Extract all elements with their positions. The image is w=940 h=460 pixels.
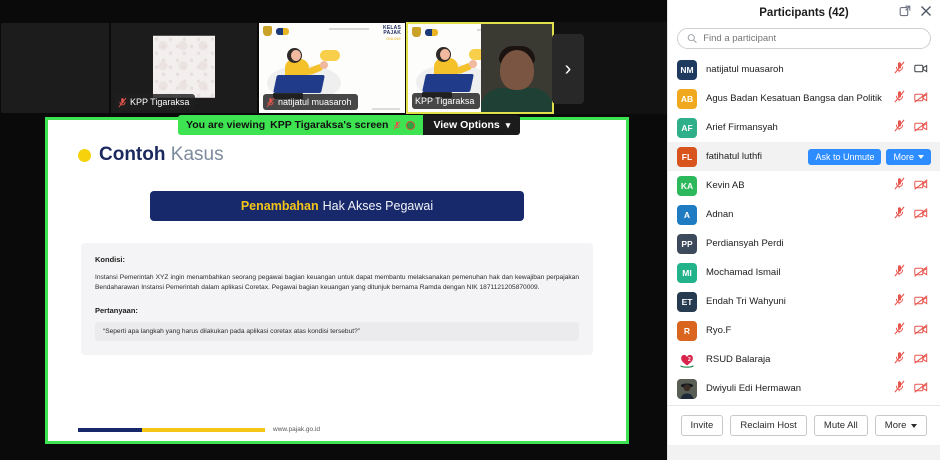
thumbnail-name-badge: KPP Tigaraksa — [412, 93, 480, 109]
mic-off-icon — [894, 206, 905, 219]
popout-icon[interactable] — [899, 5, 911, 21]
thumbnail-name: KPP Tigaraksa — [130, 96, 189, 108]
more-button[interactable]: More — [875, 415, 928, 436]
mic-off-icon — [894, 264, 905, 277]
participant-name: Kevin AB — [706, 180, 885, 191]
avatar: MI — [677, 263, 697, 283]
participant-name: Mochamad Ismail — [706, 267, 885, 278]
djp-logo-icon — [276, 28, 289, 35]
mic-off-icon — [894, 293, 905, 306]
mic-status-icon[interactable] — [894, 351, 905, 369]
zoom-meeting-window: KPP Tigaraksa KELASPAJAKONLINE — [0, 0, 940, 460]
view-options-button[interactable]: View Options ▾ — [423, 115, 520, 135]
participant-name: Dwiyuli Edi Hermawan — [706, 383, 885, 394]
video-off-icon — [914, 121, 928, 132]
video-off-icon — [914, 295, 928, 306]
video-status-icon[interactable] — [914, 119, 928, 137]
participant-name: Agus Badan Kesatuan Bangsa dan Politik — [706, 93, 885, 104]
participant-status-icons — [894, 90, 928, 108]
mic-off-icon — [266, 97, 275, 108]
footer-rule-blue — [78, 428, 142, 432]
participant-status-icons — [894, 264, 928, 282]
kondisi-body: Instansi Pemerintah XYZ ingin menambahka… — [95, 273, 579, 293]
participant-webcam-feed — [481, 24, 552, 112]
participant-row-actions: Ask to Unmute More — [808, 149, 931, 165]
footer-url: www.pajak.go.id — [273, 426, 320, 433]
presentation-slide: Contoh Kasus Penambahan Hak Akses Pegawa… — [48, 120, 626, 441]
pertanyaan-heading: Pertanyaan: — [95, 306, 579, 315]
chevron-down-icon — [911, 424, 917, 428]
rsud-logo-icon: 2 — [677, 350, 697, 370]
footer-rule-yellow — [142, 428, 265, 432]
video-off-icon — [914, 353, 928, 364]
video-status-icon[interactable] — [914, 90, 928, 108]
ask-to-unmute-button[interactable]: Ask to Unmute — [808, 149, 881, 165]
participant-row[interactable]: MIMochamad Ismail — [668, 258, 940, 287]
reclaim-host-button[interactable]: Reclaim Host — [730, 415, 807, 436]
video-off-icon — [914, 179, 928, 190]
mic-off-icon — [894, 61, 905, 74]
participant-status-icons — [894, 177, 928, 195]
video-thumbnail[interactable]: KELASPAJAKONLINE — [258, 22, 406, 114]
mic-status-icon[interactable] — [894, 177, 905, 195]
participants-panel-header: Participants (42) — [668, 0, 940, 26]
slide-logos — [263, 26, 289, 36]
mic-status-icon[interactable] — [894, 293, 905, 311]
view-options-label: View Options — [433, 119, 499, 131]
chevron-down-icon — [918, 155, 924, 159]
avatar: NM — [677, 60, 697, 80]
search-box[interactable] — [677, 28, 931, 49]
viewing-screen-owner: KPP Tigaraksa's screen — [270, 119, 388, 131]
mic-off-icon — [894, 322, 905, 335]
avatar: R — [677, 321, 697, 341]
thumbnail-name-badge: KPP Tigaraksa — [115, 94, 195, 110]
slide-headline-bold: Penambahan — [241, 199, 319, 213]
avatar — [677, 379, 697, 399]
participant-status-icons — [894, 380, 928, 398]
search-container — [668, 26, 940, 55]
participant-name: fatihatul luthfi — [706, 151, 799, 162]
invite-button[interactable]: Invite — [681, 415, 724, 436]
slide-headline-rest: Hak Akses Pegawai — [323, 199, 433, 213]
djp-logo-icon — [425, 29, 438, 36]
mic-status-icon[interactable] — [894, 322, 905, 340]
screen-share-banner: You are viewing KPP Tigaraksa's screen V… — [178, 115, 520, 135]
mic-off-icon — [393, 120, 401, 131]
avatar: PP — [677, 234, 697, 254]
mic-status-icon[interactable] — [894, 264, 905, 282]
mic-off-icon — [894, 177, 905, 190]
video-off-icon — [914, 208, 928, 219]
bullet-dot-icon — [78, 149, 91, 162]
video-status-icon[interactable] — [914, 206, 928, 224]
mic-off-icon — [894, 380, 905, 393]
participant-row[interactable]: FLfatihatul luthfi Ask to Unmute More — [668, 142, 940, 171]
avatar: AB — [677, 89, 697, 109]
video-thumbnail[interactable]: KPP Tigaraksa — [110, 22, 258, 114]
participant-row[interactable]: 2 RSUD Balaraja — [668, 345, 940, 374]
video-thumbnail[interactable] — [0, 22, 110, 114]
close-icon[interactable] — [920, 5, 932, 21]
participants-footer-toolbar: Invite Reclaim Host Mute All More — [668, 405, 940, 445]
video-status-icon[interactable] — [914, 264, 928, 282]
page-title: Participants (42) — [759, 7, 848, 19]
avatar: ET — [677, 292, 697, 312]
video-status-icon[interactable] — [914, 351, 928, 369]
participant-row[interactable]: AAdnan — [668, 200, 940, 229]
participant-row[interactable]: NMnatijatul muasaroh — [668, 55, 940, 84]
mic-status-icon[interactable] — [894, 90, 905, 108]
slide-title-rest: Kasus — [171, 144, 224, 165]
panel-bottom-strip — [667, 445, 940, 460]
search-icon — [687, 33, 697, 44]
kelas-pajak-badge: KELASPAJAKONLINE — [383, 26, 401, 41]
slide-title-bold: Contoh — [99, 144, 165, 165]
participant-name: Perdiansyah Perdi — [706, 238, 919, 249]
avatar: AF — [677, 118, 697, 138]
participant-status-icons — [894, 119, 928, 137]
recording-indicator-icon — [406, 121, 415, 130]
mic-off-icon — [118, 97, 127, 108]
avatar: KA — [677, 176, 697, 196]
participants-panel: Participants (42) — [667, 0, 940, 445]
mic-status-icon[interactable] — [894, 206, 905, 224]
video-thumbnail-active-speaker[interactable]: KELASPAJAKONLINE — [406, 22, 554, 114]
participant-status-icons — [894, 61, 928, 79]
garuda-logo-icon — [412, 27, 421, 37]
slide-title: Contoh Kasus — [78, 144, 596, 166]
video-on-icon — [914, 63, 928, 74]
participant-name: Adnan — [706, 209, 885, 220]
video-status-icon[interactable] — [914, 177, 928, 195]
video-off-icon — [914, 324, 928, 335]
more-button-label: More — [885, 420, 907, 431]
video-off-icon — [914, 266, 928, 277]
mic-status-icon[interactable] — [894, 119, 905, 137]
meeting-stage: KPP Tigaraksa KELASPAJAKONLINE — [0, 0, 667, 460]
avatar: 2 — [677, 350, 697, 370]
participant-row[interactable]: ETEndah Tri Wahyuni — [668, 287, 940, 316]
mic-status-icon[interactable] — [894, 380, 905, 398]
participant-name: Endah Tri Wahyuni — [706, 296, 885, 307]
pertanyaan-body: “Seperti apa langkah yang harus dilakuka… — [95, 322, 579, 341]
participant-name: Ryo.F — [706, 325, 885, 336]
viewing-status: You are viewing KPP Tigaraksa's screen — [178, 115, 423, 135]
mic-off-icon — [894, 119, 905, 132]
thumbnail-name: KPP Tigaraksa — [415, 95, 474, 107]
thumbnail-name: natijatul muasaroh — [278, 96, 352, 108]
thumbnail-video-content — [153, 36, 215, 98]
slide-content-card: Kondisi: Instansi Pemerintah XYZ ingin m… — [81, 243, 593, 355]
participant-status-icons — [894, 322, 928, 340]
video-off-icon — [914, 382, 928, 393]
slide-footer: www.pajak.go.id — [48, 426, 626, 433]
mute-all-button[interactable]: Mute All — [814, 415, 868, 436]
participant-status-icons — [894, 351, 928, 369]
participant-status-icons — [894, 206, 928, 224]
viewing-prefix: You are viewing — [186, 119, 265, 131]
participant-row[interactable]: PPPerdiansyah Perdi — [668, 229, 940, 258]
participant-status-icons — [894, 293, 928, 311]
mic-off-icon — [894, 90, 905, 103]
video-status-icon[interactable] — [914, 61, 928, 79]
video-status-icon[interactable] — [914, 380, 928, 398]
slide-logos — [412, 27, 438, 37]
svg-text:2: 2 — [688, 357, 691, 363]
mic-off-icon — [894, 351, 905, 364]
video-status-icon[interactable] — [914, 322, 928, 340]
search-input[interactable] — [703, 33, 921, 44]
thumbnail-name-badge: natijatul muasaroh — [263, 94, 358, 110]
participant-row[interactable]: AFArief Firmansyah — [668, 113, 940, 142]
participant-more-button[interactable]: More — [886, 149, 931, 165]
chevron-right-icon: › — [565, 58, 572, 81]
video-status-icon[interactable] — [914, 293, 928, 311]
participant-name: Arief Firmansyah — [706, 122, 885, 133]
mic-status-icon[interactable] — [894, 61, 905, 79]
avatar: FL — [677, 147, 697, 167]
garuda-logo-icon — [263, 26, 272, 36]
participant-row[interactable]: KAKevin AB — [668, 171, 940, 200]
participant-name: RSUD Balaraja — [706, 354, 885, 365]
video-off-icon — [914, 92, 928, 103]
participant-photo — [677, 379, 697, 399]
participant-row[interactable]: ABAgus Badan Kesatuan Bangsa dan Politik — [668, 84, 940, 113]
chevron-down-icon: ▾ — [506, 120, 511, 131]
participant-row[interactable]: Dwiyuli Edi Hermawan — [668, 374, 940, 403]
slide-subtitle-line — [329, 28, 369, 30]
filmstrip-next-button[interactable]: › — [552, 34, 584, 104]
participant-name: natijatul muasaroh — [706, 64, 885, 75]
participant-list[interactable]: NMnatijatul muasaroh ABAgus Badan Kesatu… — [668, 55, 940, 405]
slide-headline-banner: Penambahan Hak Akses Pegawai — [150, 191, 524, 221]
avatar: A — [677, 205, 697, 225]
shared-screen-viewport[interactable]: Contoh Kasus Penambahan Hak Akses Pegawa… — [45, 117, 629, 444]
kondisi-heading: Kondisi: — [95, 255, 579, 264]
participant-row[interactable]: RRyo.F — [668, 316, 940, 345]
